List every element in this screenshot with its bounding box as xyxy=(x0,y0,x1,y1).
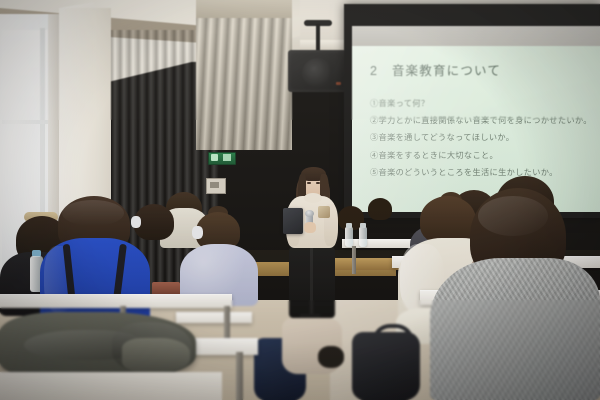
bag-shadow xyxy=(318,346,344,368)
bottle-cap-icon xyxy=(346,223,352,228)
running-person-icon xyxy=(211,154,218,161)
curtain-grey-folds xyxy=(196,0,292,150)
black-backpack xyxy=(352,332,420,400)
desk-leg xyxy=(236,352,243,400)
presenter-eye xyxy=(307,182,311,184)
speaker-cone-icon xyxy=(302,58,332,88)
name-badge xyxy=(318,206,330,218)
face-mask-icon xyxy=(192,226,203,239)
water-bottle xyxy=(345,227,353,247)
white-desk xyxy=(176,312,252,323)
face-mask-icon xyxy=(131,216,141,228)
water-bottle xyxy=(359,227,367,247)
jacket-hem xyxy=(122,338,190,372)
tablet-icon xyxy=(283,208,303,234)
speaker-led-icon xyxy=(336,82,341,85)
presenter-hand xyxy=(304,222,316,233)
white-desk-foreground xyxy=(0,372,222,400)
bottle-cap-icon xyxy=(360,223,366,228)
hair-highlight xyxy=(62,200,124,226)
hair-highlight xyxy=(478,196,548,236)
slide-header-band xyxy=(352,26,600,46)
microphone-head-icon xyxy=(305,210,314,217)
white-desk xyxy=(0,294,232,308)
wall-outlet-slot xyxy=(210,182,219,188)
classroom-photo: 2 音楽教育について ①音楽って何？ ②学力とかに直接関係ない音楽で何を身につか… xyxy=(0,0,600,400)
knit-texture xyxy=(430,258,600,400)
student-head-far xyxy=(368,198,392,220)
curtain-grey-header xyxy=(196,0,292,18)
exit-door-icon xyxy=(223,154,231,161)
presenter-skirt-fold xyxy=(310,248,313,314)
student-head xyxy=(420,196,476,244)
presenter-collar xyxy=(304,193,322,203)
screen-glare xyxy=(352,46,600,212)
desk-leg xyxy=(352,246,356,274)
